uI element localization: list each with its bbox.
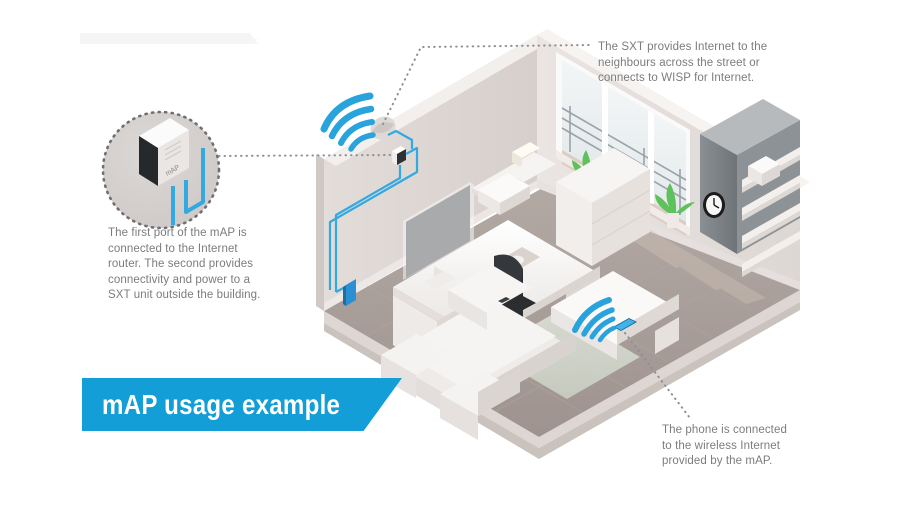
callout-phone-text: The phone is connected to the wireless I… xyxy=(662,423,832,470)
wall-clock-icon xyxy=(703,192,725,218)
callout-map-text: The first port of the mAP is connected t… xyxy=(108,226,298,304)
wall-left-thickness xyxy=(316,154,324,311)
callout-sxt-text: The SXT provides Internet to the neighbo… xyxy=(598,40,798,87)
title-banner-text: mAP usage example xyxy=(102,378,340,431)
map-magnifier-callout: mAP xyxy=(103,112,219,228)
router-side xyxy=(343,285,346,306)
decor-wedge-2 xyxy=(80,33,258,44)
title-banner: mAP usage example xyxy=(82,378,402,431)
